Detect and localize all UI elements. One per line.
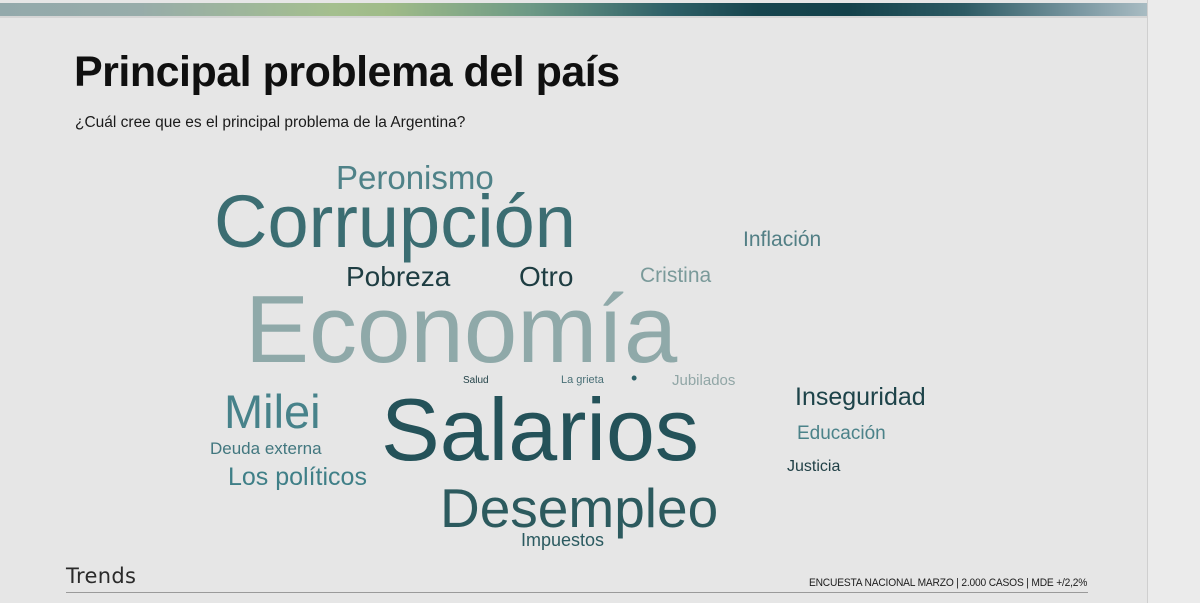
- word-cloud-term: Impuestos: [521, 531, 604, 549]
- word-cloud-term: Otro: [519, 263, 573, 291]
- word-cloud-term: Inflación: [743, 229, 821, 250]
- word-cloud-term: Los políticos: [228, 465, 367, 490]
- slide-canvas: Principal problema del país ¿Cuál cree q…: [0, 0, 1148, 603]
- footer-divider: [66, 592, 1088, 593]
- word-cloud-term: Salud: [463, 376, 489, 386]
- word-cloud-term: Pobreza: [346, 263, 450, 291]
- word-cloud-term: Educación: [797, 424, 886, 443]
- word-cloud-term: Peronismo: [336, 161, 494, 194]
- word-cloud-term: Economía: [245, 282, 677, 378]
- brand-logo: Trends: [66, 564, 136, 588]
- survey-meta-text: ENCUESTA NACIONAL MARZO | 2.000 CASOS | …: [809, 577, 1087, 589]
- word-cloud: EconomíaSalariosCorrupciónDesempleoMilei…: [0, 0, 1148, 603]
- word-cloud-term: Corrupción: [214, 185, 576, 259]
- word-cloud-term: Cristina: [640, 265, 711, 286]
- word-cloud-term: Inseguridad: [795, 385, 926, 410]
- word-cloud-term: •: [631, 369, 637, 387]
- word-cloud-term: Jubilados: [672, 373, 735, 388]
- word-cloud-term: Milei: [224, 388, 321, 435]
- word-cloud-term: Deuda externa: [210, 440, 322, 457]
- word-cloud-term: Salarios: [381, 386, 699, 474]
- word-cloud-term: La grieta: [561, 375, 604, 386]
- word-cloud-term: Justicia: [787, 459, 840, 475]
- word-cloud-term: Desempleo: [440, 481, 718, 536]
